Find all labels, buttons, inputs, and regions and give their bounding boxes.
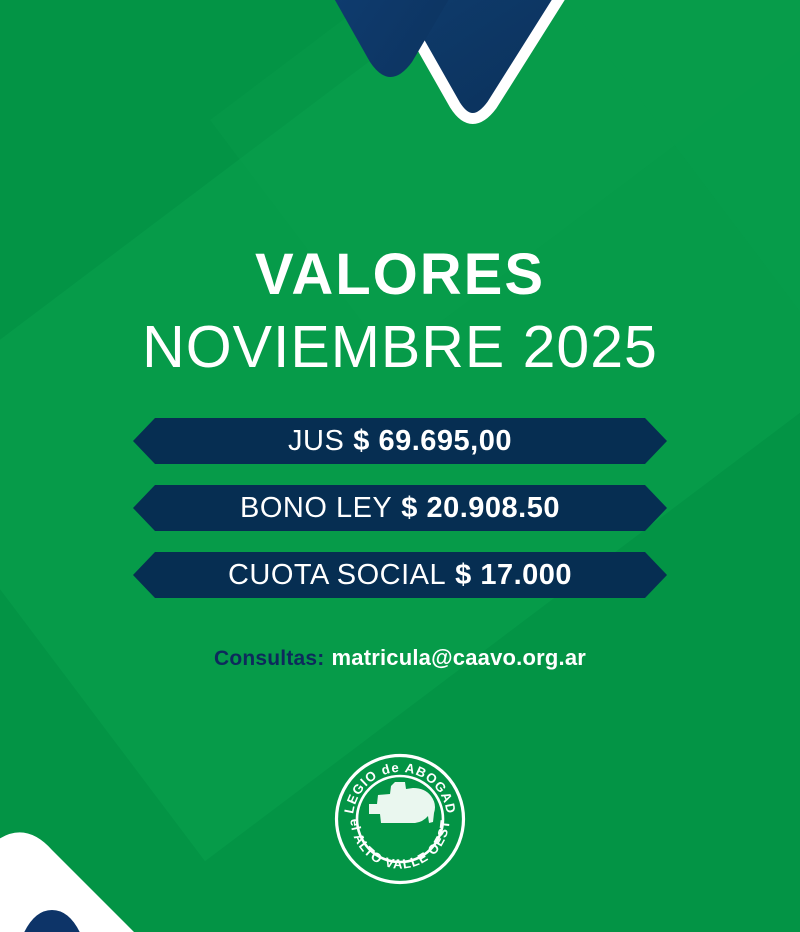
value-amount: $ 69.695,00 bbox=[353, 425, 512, 458]
circular-seal-map-icon: COLEGIO de ABOGADOS del ALTO VALLE OESTE bbox=[333, 752, 467, 886]
contact-line: Consultas:matricula@caavo.org.ar bbox=[0, 647, 800, 669]
chevron-back bbox=[190, 0, 800, 119]
contact-label: Consultas: bbox=[214, 647, 325, 670]
value-banner-jus: JUS $ 69.695,00 bbox=[133, 418, 667, 464]
title-line-1: VALORES bbox=[0, 246, 800, 304]
value-label: BONO LEY bbox=[240, 492, 392, 525]
value-label: JUS bbox=[288, 425, 344, 458]
corner-chevron-ornament bbox=[0, 798, 240, 932]
double-chevron-ornament bbox=[0, 0, 800, 160]
value-label: CUOTA SOCIAL bbox=[228, 559, 446, 592]
poster-canvas: VALORES NOVIEMBRE 2025 JUS $ 69.695,00 B… bbox=[0, 0, 800, 932]
value-amount: $ 20.908.50 bbox=[401, 492, 560, 525]
values-list: JUS $ 69.695,00 BONO LEY $ 20.908.50 CUO… bbox=[0, 418, 800, 619]
value-banner-cuota-social: CUOTA SOCIAL $ 17.000 bbox=[133, 552, 667, 598]
chevron-front bbox=[120, 0, 672, 77]
seal-map-shape bbox=[369, 782, 435, 823]
contact-email[interactable]: matricula@caavo.org.ar bbox=[332, 645, 587, 670]
page-title: VALORES NOVIEMBRE 2025 bbox=[0, 246, 800, 377]
value-amount: $ 17.000 bbox=[455, 559, 572, 592]
value-banner-bono-ley: BONO LEY $ 20.908.50 bbox=[133, 485, 667, 531]
title-line-2: NOVIEMBRE 2025 bbox=[0, 318, 800, 377]
